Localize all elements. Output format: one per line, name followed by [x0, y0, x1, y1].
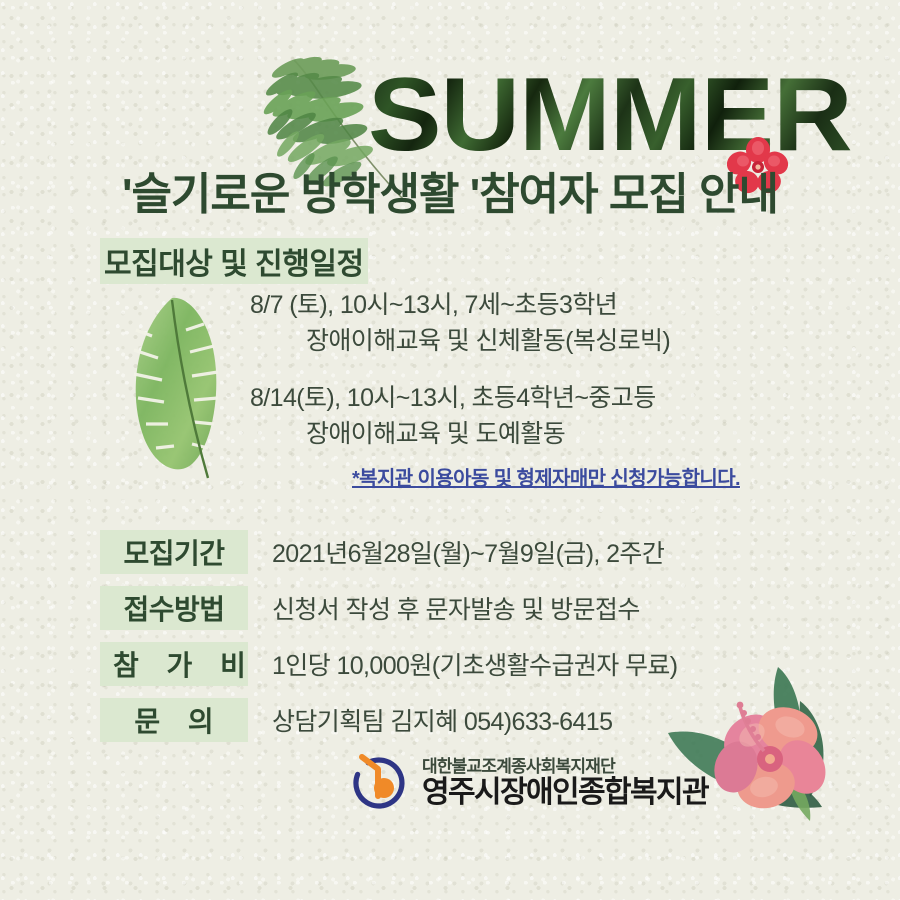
schedule-line-activity-1: 장애이해교육 및 신체활동(복싱로빅) [250, 324, 840, 360]
schedule-group-2: 8/14(토), 10시~13시, 초등4학년~중고등 장애이해교육 및 도예활… [250, 381, 840, 452]
info-value-contact: 상담기획팀 김지혜 054)633-6415 [272, 702, 612, 738]
poster-canvas: SUMMER '슬기로운 방학생활 '참여자 모집 안내 모집대상 및 진행일정 [0, 0, 900, 900]
schedule-line-date-1: 8/7 (토), 10시~13시, 7세~초등3학년 [250, 288, 840, 324]
info-label-contact: 문 의 [100, 698, 248, 742]
page-title: '슬기로운 방학생활 '참여자 모집 안내 [0, 158, 900, 222]
hibiscus-pink-icon [660, 655, 900, 855]
banana-leaf-icon [112, 288, 252, 488]
info-value-period: 2021년6월28일(월)~7월9일(금), 2주간 [272, 534, 664, 570]
info-value-fee: 1인당 10,000원(기초생활수급권자 무료) [272, 646, 678, 682]
buddhist-welfare-logo-icon [348, 752, 410, 814]
section-heading-recruitment: 모집대상 및 진행일정 [100, 238, 368, 284]
info-row-period: 모집기간 2021년6월28일(월)~7월9일(금), 2주간 [100, 524, 820, 580]
summer-headline-block: SUMMER [0, 52, 900, 162]
info-label-period: 모집기간 [100, 530, 248, 574]
info-label-fee: 참 가 비 [100, 642, 248, 686]
schedule-line-date-2: 8/14(토), 10시~13시, 초등4학년~중고등 [250, 381, 840, 417]
info-row-method: 접수방법 신청서 작성 후 문자발송 및 방문접수 [100, 580, 820, 636]
info-value-method: 신청서 작성 후 문자발송 및 방문접수 [272, 590, 640, 626]
schedule-line-activity-2: 장애이해교육 및 도예활동 [250, 417, 840, 453]
schedule-group-1: 8/7 (토), 10시~13시, 7세~초등3학년 장애이해교육 및 신체활동… [250, 288, 840, 359]
info-label-method: 접수방법 [100, 586, 248, 630]
eligibility-note: *복지관 이용아동 및 형제자매만 신청가능합니다. [352, 462, 740, 491]
schedule-list: 8/7 (토), 10시~13시, 7세~초등3학년 장애이해교육 및 신체활동… [250, 288, 840, 474]
footer-logo: 대한불교조계종사회복지재단 영주시장애인종합복지관 [348, 752, 708, 814]
